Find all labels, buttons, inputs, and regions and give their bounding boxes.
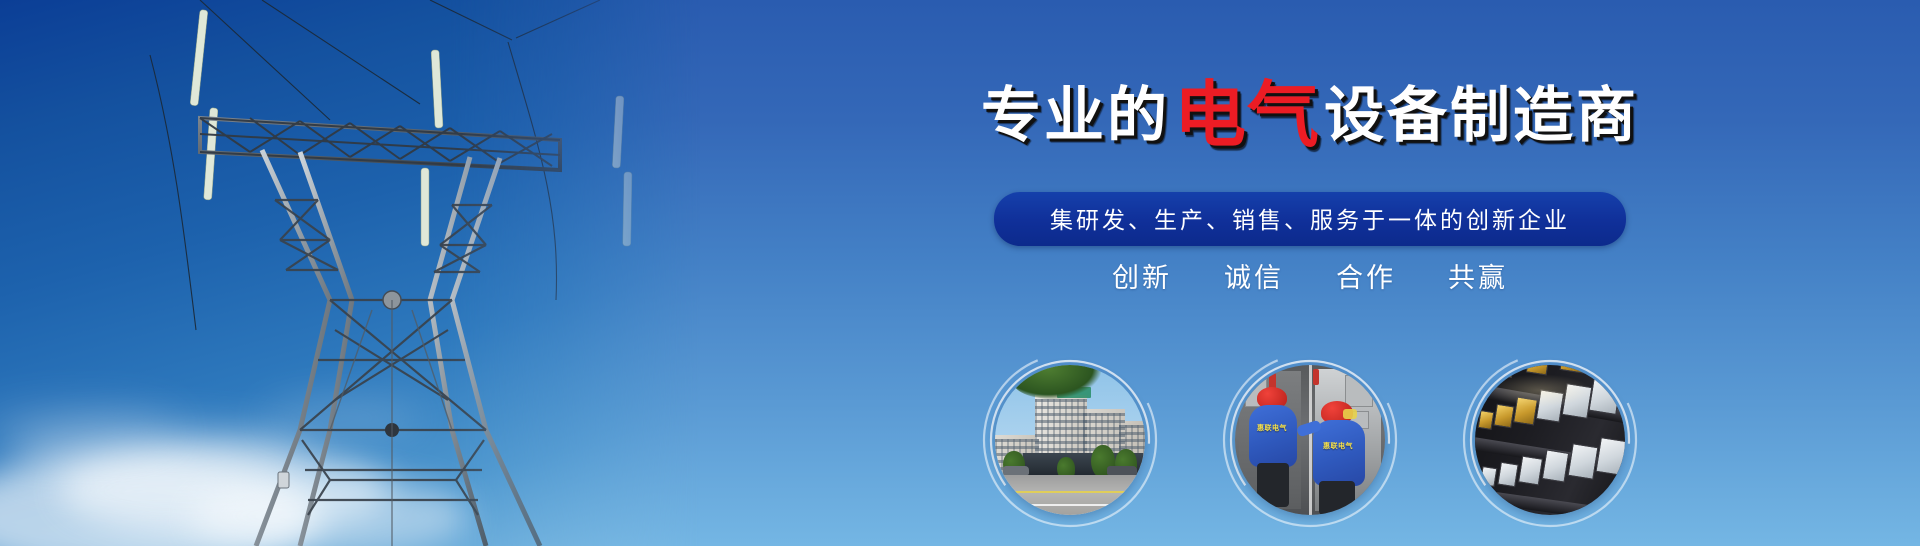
workers-installation-photo: 惠联电气 惠联电气 <box>1235 365 1385 515</box>
headline-suffix: 设备制造商 <box>1324 82 1639 149</box>
workers-scene: 惠联电气 惠联电气 <box>1235 365 1385 515</box>
value-item: 合作 <box>1336 256 1396 295</box>
promotional-banner: 专业的电气设备制造商 集研发、生产、销售、服务于一体的创新企业 创新 诚信 合作… <box>0 0 1920 546</box>
core-values-row: 创新 诚信 合作 共赢 <box>700 256 1920 295</box>
banner-headline: 专业的电气设备制造商 <box>700 76 1920 148</box>
circle-photo-workers: 惠联电气 惠联电气 <box>1218 348 1402 532</box>
headline-prefix: 专业的 <box>981 82 1170 149</box>
circle-photo-certificates <box>1458 348 1642 532</box>
certificates-wall-photo <box>1475 365 1625 515</box>
jacket-text-right: 惠联电气 <box>1323 441 1353 451</box>
jacket-text-left: 惠联电气 <box>1257 423 1287 433</box>
office-building-photo <box>995 365 1145 515</box>
tagline-pill: 集研发、生产、销售、服务于一体的创新企业 <box>994 192 1626 246</box>
value-item: 创新 <box>1112 256 1172 295</box>
transmission-tower-icon <box>0 0 700 546</box>
headline-accent: 电气 <box>1170 76 1324 156</box>
value-item: 共赢 <box>1448 256 1508 295</box>
value-item: 诚信 <box>1224 256 1284 295</box>
circle-photo-office <box>978 348 1162 532</box>
certificates-scene <box>1475 365 1625 515</box>
office-scene <box>995 365 1145 515</box>
tagline-pill-wrapper: 集研发、生产、销售、服务于一体的创新企业 <box>700 192 1920 246</box>
banner-content: 专业的电气设备制造商 集研发、生产、销售、服务于一体的创新企业 创新 诚信 合作… <box>700 0 1920 546</box>
transmission-tower-photo <box>0 0 700 546</box>
photo-circles-row: 惠联电气 惠联电气 <box>700 348 1920 532</box>
